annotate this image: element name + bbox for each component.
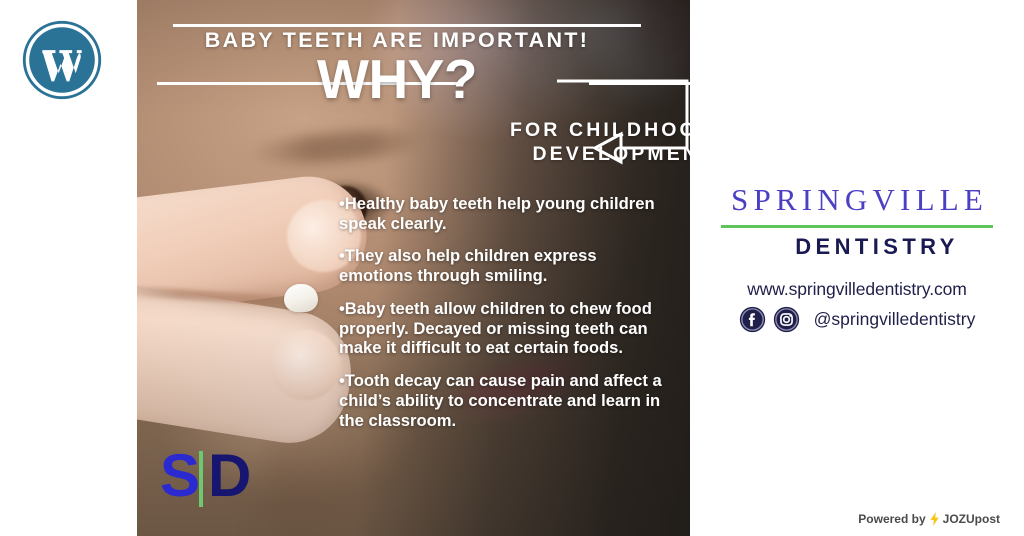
list-item: •Tooth decay can cause pain and affect a… (339, 371, 671, 430)
brand-subtitle: DENTISTRY (690, 234, 1024, 260)
brand-name: SPRINGVILLE (690, 182, 1024, 218)
list-item: •Baby teeth allow children to chew food … (339, 299, 671, 358)
list-item: •Healthy baby teeth help young children … (339, 194, 671, 233)
list-item: •They also help children express emotion… (339, 246, 671, 285)
sd-letter-s: S (160, 446, 200, 506)
sd-letter-d: D (208, 446, 251, 506)
powered-by-footer: Powered by JOZUpost (858, 512, 1000, 526)
wordpress-icon (21, 19, 103, 101)
social-links: @springvilledentistry (690, 306, 1024, 333)
sd-watermark-logo: S D (160, 446, 270, 510)
powered-by-label: Powered by (858, 512, 925, 526)
poster-image: BABY TEETH ARE IMPORTANT! WHY? FOR CHILD… (137, 0, 690, 536)
brand-divider (721, 225, 993, 228)
lightning-bolt-icon (929, 512, 940, 526)
poster-bullet-list: •Healthy baby teeth help young children … (339, 194, 671, 430)
instagram-icon[interactable] (773, 306, 800, 333)
social-handle[interactable]: @springvilledentistry (814, 309, 976, 330)
facebook-icon[interactable] (739, 306, 766, 333)
left-arrow-icon (595, 134, 621, 162)
headline-top-rule (173, 24, 641, 27)
sd-divider (199, 451, 203, 507)
brand-website[interactable]: www.springvilledentistry.com (690, 279, 1024, 300)
powered-by-brand: JOZUpost (943, 512, 1000, 526)
wordpress-logo (21, 19, 103, 101)
brand-panel: SPRINGVILLE DENTISTRY www.springvilleden… (690, 0, 1024, 536)
arrow-bracket-graphic (555, 76, 690, 166)
